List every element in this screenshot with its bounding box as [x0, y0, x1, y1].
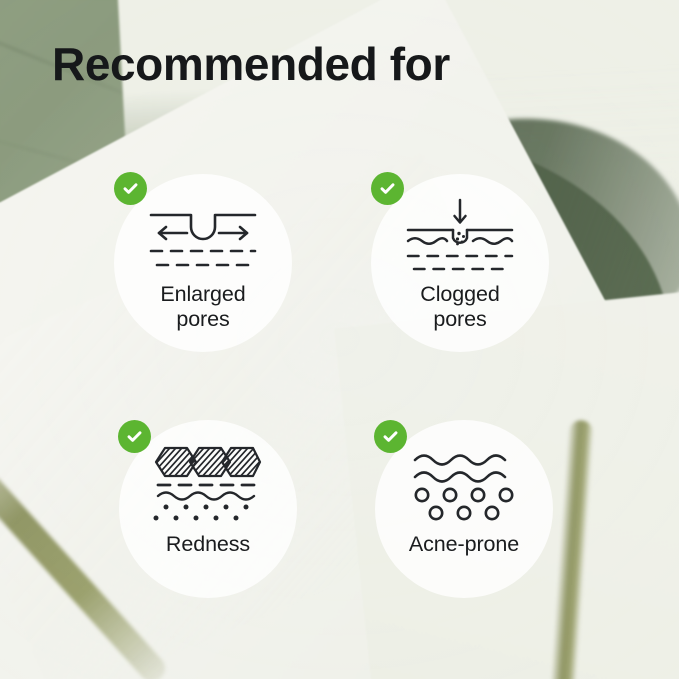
check-icon [381, 427, 400, 446]
check-icon [125, 427, 144, 446]
background-soft-overlay [0, 0, 679, 679]
check-badge-redness [118, 420, 151, 453]
check-icon [378, 179, 397, 198]
benefit-label: Acne-prone [409, 532, 519, 557]
check-badge-enlarged-pores [114, 172, 147, 205]
benefit-label: Enlarged pores [160, 282, 245, 332]
check-badge-acne-prone [374, 420, 407, 453]
check-icon [121, 179, 140, 198]
acne-prone-skin-icon [408, 448, 520, 520]
benefit-label: Redness [166, 532, 250, 557]
leaf-background-photo [0, 0, 679, 679]
enlarged-pore-icon [147, 202, 259, 274]
recommended-for-panel: Recommended for Enlarged pores [0, 0, 679, 679]
clogged-pore-icon [404, 202, 516, 274]
check-badge-clogged-pores [371, 172, 404, 205]
page-title: Recommended for [52, 39, 450, 90]
benefit-label: Clogged pores [420, 282, 499, 332]
redness-skin-icon [152, 448, 264, 520]
